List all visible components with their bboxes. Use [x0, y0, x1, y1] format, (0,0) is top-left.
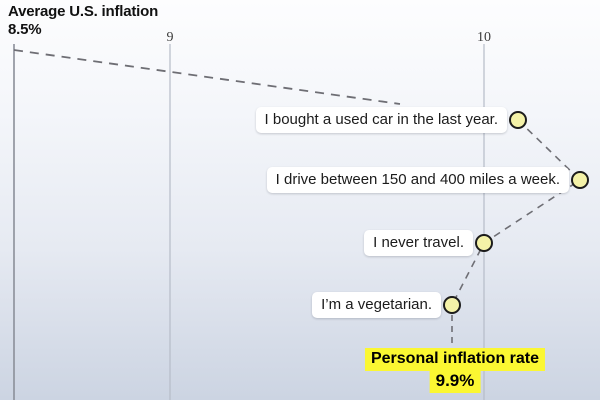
personal-rate-value: 9.9%: [430, 370, 481, 393]
x-tick-label: 9: [167, 30, 174, 46]
statement-label: I bought a used car in the last year.: [256, 107, 507, 133]
page-title: Average U.S. inflation: [8, 3, 158, 21]
statement-label: I never travel.: [364, 230, 473, 256]
chart-canvas: [0, 0, 600, 400]
chart-title-block: Average U.S. inflation 8.5%: [8, 3, 158, 39]
data-point-dot[interactable]: [509, 111, 527, 129]
average-inflation-dashed-line: [14, 50, 400, 104]
statement-label: I’m a vegetarian.: [312, 292, 441, 318]
statement-label: I drive between 150 and 400 miles a week…: [267, 167, 569, 193]
x-tick-label: 10: [477, 30, 491, 46]
inflation-chart: Average U.S. inflation 8.5% 910 I bought…: [0, 0, 600, 400]
data-point-dot[interactable]: [475, 234, 493, 252]
data-point-dot[interactable]: [443, 296, 461, 314]
response-connector-dashed-line: [452, 120, 580, 305]
personal-rate-label: Personal inflation rate: [365, 348, 545, 371]
average-inflation-value: 8.5%: [8, 21, 158, 39]
x-gridlines: [170, 44, 484, 400]
data-point-dot[interactable]: [571, 171, 589, 189]
